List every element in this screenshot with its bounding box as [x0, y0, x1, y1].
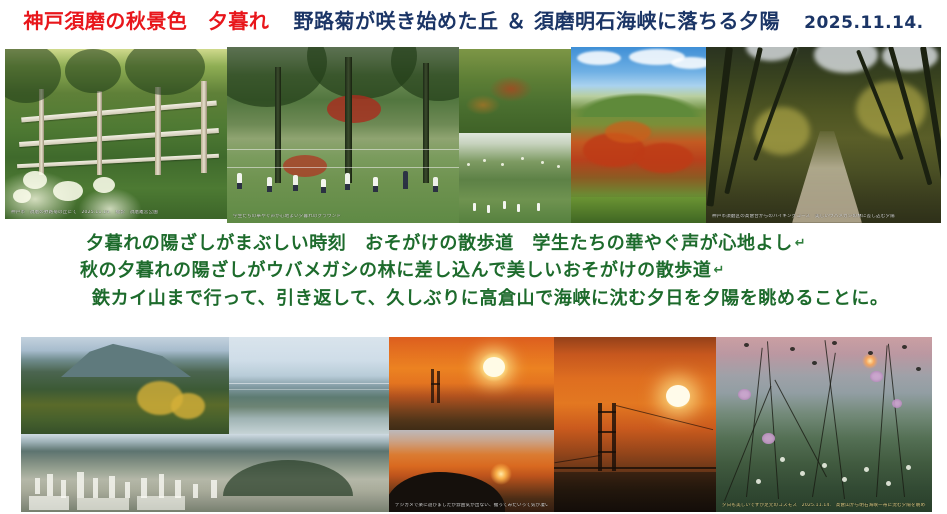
bridge-cable	[616, 405, 713, 430]
body-line-1-text: 夕暮れの陽ざしがまぶしい時刻 おそがけの散歩道 学生たちの華やぐ声が心地よし	[86, 233, 793, 254]
bottom-photo-collage: デジカメで楽に遊びましたが雰囲気が出ない、撮ってみたいって気が凄いのかめんどう、…	[9, 332, 939, 514]
flower-bud	[790, 347, 795, 351]
nojigiku-cluster	[93, 177, 115, 193]
building	[77, 472, 84, 498]
building	[211, 480, 217, 498]
mountain-ridge	[571, 73, 706, 117]
foliage-blob	[125, 49, 205, 95]
fence-rail	[17, 154, 219, 169]
bridge-crossbeam	[598, 431, 616, 433]
line-break-mark: ↵	[712, 263, 726, 278]
mountain-silhouette	[61, 341, 191, 377]
player-figure	[237, 173, 242, 189]
flower-stem	[888, 344, 905, 497]
red-foliage-patch	[635, 143, 693, 173]
court-fence-line	[227, 149, 459, 150]
photo-sea-distant-city	[229, 337, 389, 434]
photo-cosmos-dusk: 夕日も美しいですが足元のコスモス 2025.11.14. 高倉山から明石海峡一帯…	[716, 337, 932, 512]
bridge-deck	[554, 467, 716, 469]
bridge-crossbeam	[431, 383, 440, 385]
person-figure	[473, 203, 476, 211]
building	[193, 484, 198, 498]
flower-stem	[767, 341, 779, 499]
building	[141, 478, 147, 498]
white-flower	[521, 157, 524, 160]
building-row	[29, 496, 69, 510]
hedge-row	[571, 197, 706, 223]
photo-fence-garden: 神戸市 須磨の野路菊の丘にて 2025.11.14. 撮影 須磨離宮公園	[5, 49, 227, 219]
building	[125, 482, 130, 498]
white-flower	[756, 479, 761, 484]
body-line-2-text: 秋の夕暮れの陽ざしがウバメガシの林に差し込んで美しいおそがけの散歩道	[80, 260, 712, 281]
white-flower	[501, 163, 504, 166]
player-figure	[433, 177, 438, 192]
page-title-red-segment: 神戸須磨の秋景色 夕暮れ	[23, 9, 269, 33]
person-figure	[503, 201, 506, 209]
dark-hill	[223, 460, 353, 496]
flower-bud	[868, 351, 873, 355]
photo-city-panorama	[21, 434, 389, 512]
fence-post	[155, 87, 161, 175]
photo-students-ground: 学生たちの華やぐ声が心地よい夕暮れのグラウンド	[227, 47, 459, 223]
person-figure	[537, 203, 540, 211]
building	[159, 474, 164, 498]
person-figure	[487, 205, 490, 213]
distant-city-line	[229, 389, 389, 390]
sun	[666, 385, 690, 407]
photo-park-people-small	[459, 133, 571, 223]
building	[35, 478, 40, 494]
fence-post	[97, 91, 102, 175]
nojigiku-cluster	[13, 189, 31, 203]
flower-stem	[876, 345, 888, 497]
photo-autumn-mountain	[571, 47, 706, 223]
bridge-tower	[431, 369, 434, 403]
bridge-cable	[554, 455, 600, 463]
top-photo-collage: 神戸市 須磨の野路菊の丘にて 2025.11.14. 撮影 須磨離宮公園 学生た…	[5, 47, 941, 223]
flower-bud	[916, 367, 921, 371]
slide-page: 神戸須磨の秋景色 夕暮れ 野路菊が咲き始めた丘 ＆ 須磨明石海峡に落ちる夕陽 2…	[0, 0, 947, 514]
player-figure	[403, 171, 408, 189]
building-row	[77, 498, 129, 510]
cosmos-flower	[870, 371, 883, 382]
photo-caption: デジカメで楽に遊びましたが雰囲気が出ない、撮ってみたいって気が凄いのかめんどう、…	[395, 503, 548, 509]
white-flower	[906, 465, 911, 470]
flower-bud	[812, 361, 817, 365]
cosmos-flower	[762, 433, 775, 444]
cloud	[671, 57, 706, 69]
white-flower	[822, 463, 827, 468]
body-text-block: 夕暮れの陽ざしがまぶしい時刻 おそがけの散歩道 学生たちの華やぐ声が心地よし↵ …	[0, 230, 947, 330]
photo-mountain-city-view	[21, 337, 229, 434]
building	[47, 474, 53, 496]
flower-bud	[744, 343, 749, 347]
building	[93, 478, 98, 498]
player-figure	[267, 177, 272, 192]
player-figure	[345, 173, 350, 190]
cosmos-flower	[892, 399, 902, 408]
person-figure	[517, 204, 520, 212]
player-figure	[293, 175, 298, 191]
page-title-navy-segment: 野路菊が咲き始めた丘 ＆ 須磨明石海峡に落ちる夕陽	[294, 9, 780, 33]
sun	[483, 357, 505, 377]
flower-stem	[774, 380, 827, 478]
tree-trunk	[275, 67, 281, 183]
bridge-crossbeam	[598, 411, 616, 413]
bridge-tower-leg	[612, 403, 616, 471]
flower-bud	[902, 345, 907, 349]
bridge-tower	[437, 371, 440, 403]
red-foliage	[283, 155, 327, 177]
fence-rail	[21, 100, 217, 122]
photo-sunset-bridge-tower	[389, 337, 554, 430]
white-flower	[467, 163, 470, 166]
red-foliage-patch	[605, 121, 651, 143]
white-flower	[557, 165, 560, 168]
photo-sunset-dark-ridge: デジカメで楽に遊びましたが雰囲気が出ない、撮ってみたいって気が凄いのかめんどう、…	[389, 430, 554, 512]
line-break-mark: ↵	[793, 236, 807, 251]
page-title: 神戸須磨の秋景色 夕暮れ 野路菊が咲き始めた丘 ＆ 須磨明石海峡に落ちる夕陽 2…	[0, 6, 947, 38]
cosmos-flower	[738, 389, 751, 400]
foliage-blob	[65, 49, 121, 93]
white-flower	[800, 471, 805, 476]
nojigiku-cluster	[23, 171, 47, 189]
fence-rail	[19, 128, 219, 147]
body-line-3: 鉄カイ山まで行って、引き返して、久しぶりに高倉山で海峡に沈む夕日を夕陽を眺めるこ…	[92, 285, 889, 312]
flower-stem	[812, 353, 836, 497]
foliage-blob	[5, 49, 61, 103]
red-foliage	[327, 95, 381, 123]
cloud	[577, 51, 621, 65]
photo-akashi-bridge-sunset	[554, 337, 716, 512]
photo-caption: 夕日も美しいですが足元のコスモス 2025.11.14. 高倉山から明石海峡一帯…	[722, 503, 926, 509]
photo-caption: 神戸市須磨区の高倉台からのハイキングコース 美しいウバメガシの林に差し込む夕陽	[712, 214, 935, 220]
building-row	[137, 496, 185, 510]
nojigiku-cluster	[53, 181, 83, 201]
sea-surface	[554, 472, 716, 512]
photo-caption: 神戸市 須磨の野路菊の丘にて 2025.11.14. 撮影 須磨離宮公園	[11, 210, 221, 216]
white-flower	[483, 159, 486, 162]
white-flower	[842, 477, 847, 482]
page-title-date: 2025.11.14.	[804, 13, 924, 33]
tree-trunk	[345, 57, 352, 183]
body-line-2: 秋の夕暮れの陽ざしがウバメガシの林に差し込んで美しいおそがけの散歩道↵	[80, 257, 725, 284]
player-figure	[321, 179, 326, 193]
flower-stem	[825, 340, 845, 499]
fence-post	[201, 81, 207, 173]
fence-post	[39, 89, 44, 175]
distant-city-line	[229, 383, 389, 384]
sky-gap	[814, 47, 878, 73]
bridge-tower-leg	[598, 403, 602, 471]
golden-tree	[171, 393, 205, 419]
photo-caption: 学生たちの華やぐ声が心地よい夕暮れのグラウンド	[233, 214, 453, 220]
photo-autumn-hill-small	[459, 49, 571, 133]
white-flower	[864, 467, 869, 472]
court-fence-line	[227, 167, 459, 168]
white-flower	[886, 481, 891, 486]
flower-bud	[832, 341, 837, 345]
tree-trunk	[423, 63, 429, 183]
body-line-1: 夕暮れの陽ざしがまぶしい時刻 おそがけの散歩道 学生たちの華やぐ声が心地よし↵	[86, 230, 806, 257]
bridge-crossbeam	[598, 451, 616, 453]
white-flower	[541, 161, 544, 164]
photo-ubamegashi-tunnel: 神戸市須磨区の高倉台からのハイキングコース 美しいウバメガシの林に差し込む夕陽	[706, 47, 941, 223]
player-figure	[373, 177, 378, 192]
body-line-3-text: 鉄カイ山まで行って、引き返して、久しぶりに高倉山で海峡に沈む夕日を夕陽を眺めるこ…	[92, 288, 889, 309]
building	[109, 476, 115, 498]
white-flower	[780, 457, 785, 462]
